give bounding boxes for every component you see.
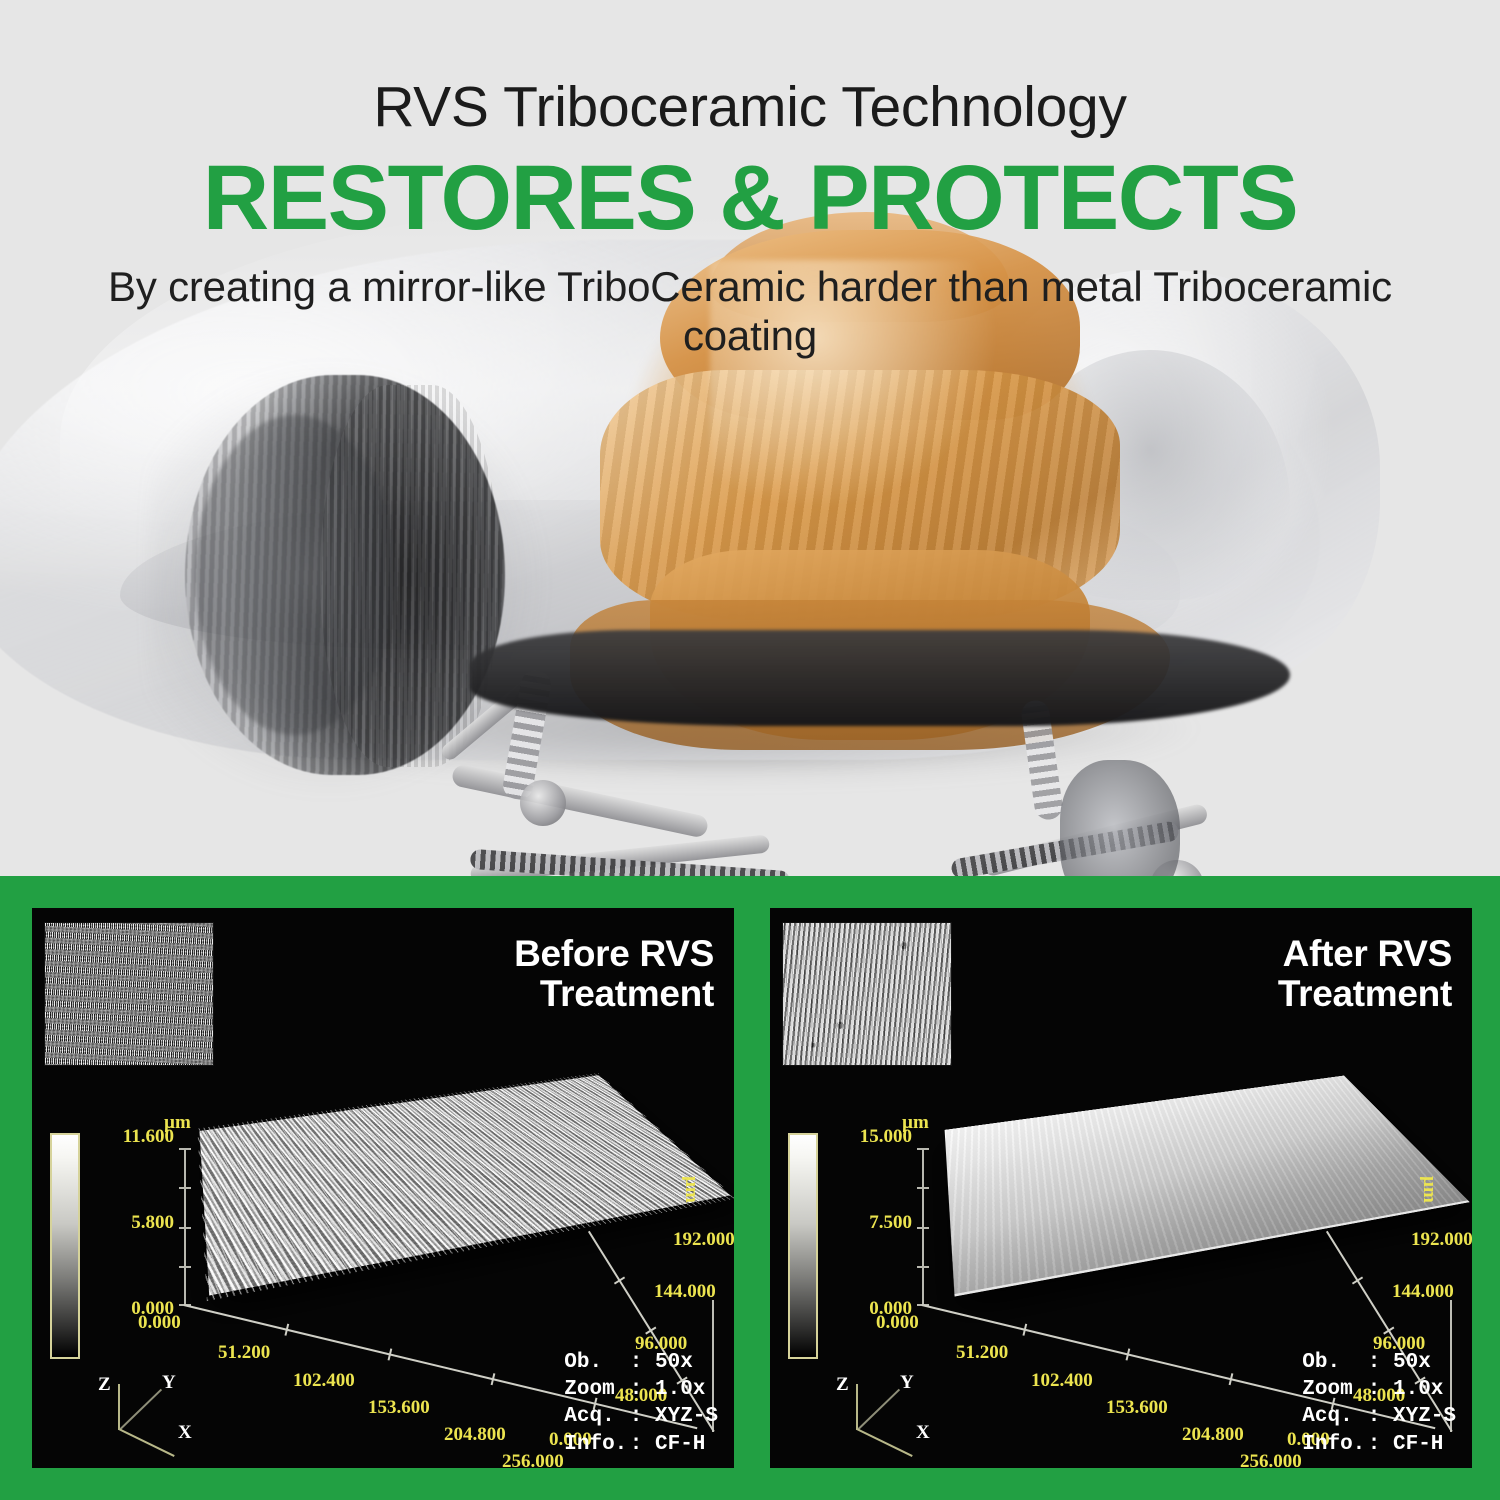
panel-title-line2: Treatment <box>514 974 714 1014</box>
surface-plot-before <box>199 1075 730 1295</box>
info-value: CF-H <box>1393 1431 1443 1458</box>
info-key: Acq. <box>1302 1403 1368 1430</box>
x-tick-2: 102.400 <box>293 1370 355 1392</box>
z-axis-before <box>184 1148 186 1306</box>
panel-before-rvs: Before RVS Treatment 11.600 5.800 0.000 … <box>32 908 734 1468</box>
brake-caliper <box>1060 760 1180 876</box>
comparison-section: Before RVS Treatment 11.600 5.800 0.000 … <box>0 876 1500 1500</box>
z-axis-unit-before: µm <box>164 1112 191 1134</box>
triad-label-y: Y <box>900 1372 914 1394</box>
info-value: 1.0x <box>1393 1376 1443 1403</box>
info-value: XYZ-S <box>655 1403 718 1430</box>
panel-title-line2: Treatment <box>1278 974 1452 1014</box>
surface-texture-inset-after <box>782 922 952 1066</box>
acquisition-info-after: Ob.:50x Zoom:1.0x Acq.:XYZ-S Info.:CF-H <box>1302 1349 1456 1458</box>
panel-after-rvs: After RVS Treatment 15.000 7.500 0.000 µ… <box>770 908 1472 1468</box>
y-tick-4: 192.000 <box>1411 1229 1472 1251</box>
x-tick-4: 204.800 <box>1182 1424 1244 1446</box>
info-sep: : <box>630 1403 655 1430</box>
info-key: Acq. <box>564 1403 630 1430</box>
surface-texture-inset-before <box>44 922 214 1066</box>
hero-section: RVS Triboceramic Technology RESTORES & P… <box>0 0 1500 876</box>
y-tick-4: 192.000 <box>673 1229 734 1251</box>
y-tick-3: 144.000 <box>654 1281 716 1303</box>
info-value: XYZ-S <box>1393 1403 1456 1430</box>
colorbar-tick-mid: 7.500 <box>869 1212 912 1234</box>
info-key: Info. <box>1302 1431 1368 1458</box>
x-tick-3: 153.600 <box>1106 1397 1168 1419</box>
info-sep: : <box>1368 1349 1393 1376</box>
triad-label-x: X <box>178 1422 192 1444</box>
y-axis-unit-after: µm <box>1418 1176 1440 1203</box>
headline-restores-protects: RESTORES & PROTECTS <box>0 138 1500 246</box>
car-front-splitter <box>470 630 1290 726</box>
panel-title-before: Before RVS Treatment <box>514 934 714 1014</box>
panel-title-after: After RVS Treatment <box>1278 934 1452 1014</box>
info-sep: : <box>1368 1431 1393 1458</box>
info-sep: : <box>630 1349 655 1376</box>
panel-title-line1: Before RVS <box>514 934 714 974</box>
y-tick-3: 144.000 <box>1392 1281 1454 1303</box>
info-key: Ob. <box>1302 1349 1368 1376</box>
z-axis-after <box>922 1148 924 1306</box>
axis-triad-after: Z Y X <box>830 1376 940 1456</box>
info-value: 50x <box>655 1349 693 1376</box>
triad-label-z: Z <box>98 1374 111 1396</box>
x-tick-5: 256.000 <box>1240 1451 1302 1468</box>
info-key: Info. <box>564 1431 630 1458</box>
info-sep: : <box>630 1431 655 1458</box>
triad-label-y: Y <box>162 1372 176 1394</box>
info-key: Ob. <box>564 1349 630 1376</box>
height-colorbar-before <box>50 1133 80 1359</box>
triad-label-x: X <box>916 1422 930 1444</box>
x-tick-0: 0.000 <box>138 1312 181 1334</box>
info-value: 1.0x <box>655 1376 705 1403</box>
x-tick-2: 102.400 <box>1031 1370 1093 1392</box>
x-tick-5: 256.000 <box>502 1451 564 1468</box>
acquisition-info-before: Ob.:50x Zoom:1.0x Acq.:XYZ-S Info.:CF-H <box>564 1349 718 1458</box>
info-sep: : <box>630 1376 655 1403</box>
surface-plot-after <box>945 1076 1470 1297</box>
info-sep: : <box>1368 1376 1393 1403</box>
info-sep: : <box>1368 1403 1393 1430</box>
y-axis-unit-before: µm <box>680 1176 702 1203</box>
hero-subtitle: By creating a mirror-like TriboCeramic h… <box>80 246 1420 361</box>
x-tick-0: 0.000 <box>876 1312 919 1334</box>
triad-label-z: Z <box>836 1374 849 1396</box>
page-title: RVS Triboceramic Technology <box>0 0 1500 138</box>
tire-tread-shoulder <box>320 385 500 767</box>
height-colorbar-after <box>788 1133 818 1359</box>
info-key: Zoom <box>564 1376 630 1403</box>
info-key: Zoom <box>1302 1376 1368 1403</box>
suspension-joint <box>520 780 566 826</box>
axis-triad-before: Z Y X <box>92 1376 202 1456</box>
z-axis-unit-after: µm <box>902 1112 929 1134</box>
x-tick-1: 51.200 <box>218 1342 270 1364</box>
x-tick-1: 51.200 <box>956 1342 1008 1364</box>
colorbar-tick-mid: 5.800 <box>131 1212 174 1234</box>
panel-title-line1: After RVS <box>1278 934 1452 974</box>
x-tick-3: 153.600 <box>368 1397 430 1419</box>
info-value: 50x <box>1393 1349 1431 1376</box>
x-tick-4: 204.800 <box>444 1424 506 1446</box>
hero-heading-group: RVS Triboceramic Technology RESTORES & P… <box>0 0 1500 361</box>
info-value: CF-H <box>655 1431 705 1458</box>
